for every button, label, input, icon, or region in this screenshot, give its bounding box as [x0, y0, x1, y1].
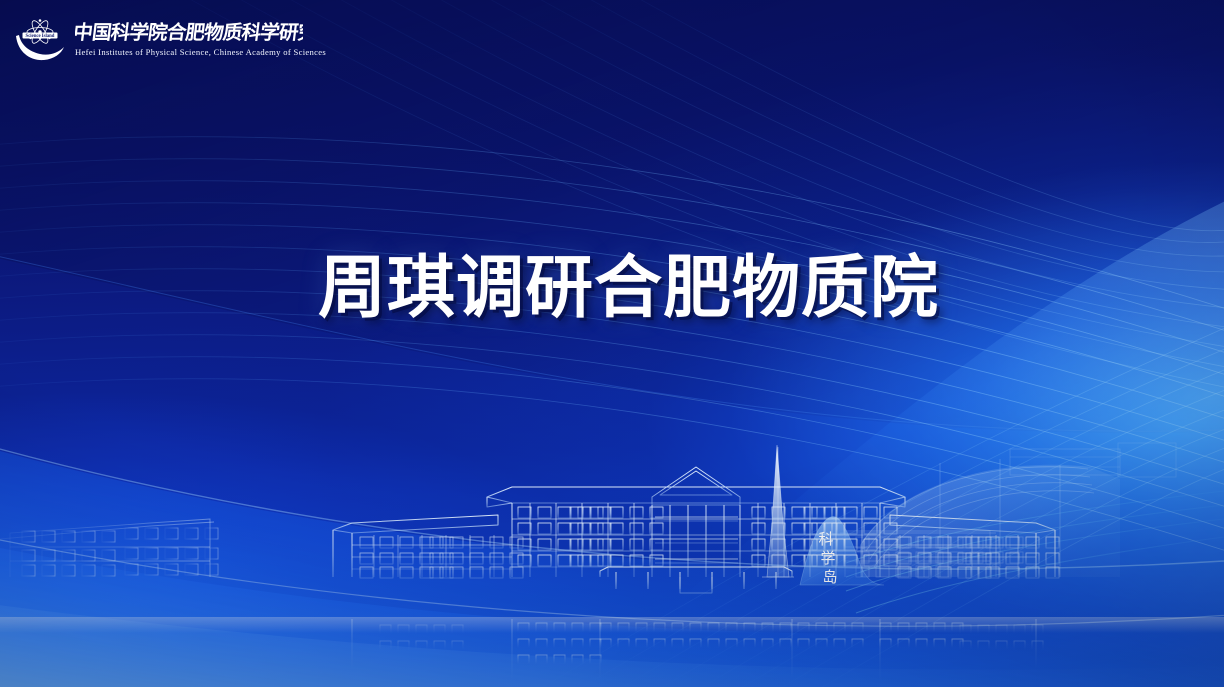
institute-logo: Science Island 中国科学院合肥物质科学研究院 Hefei Inst…: [14, 14, 326, 62]
emblem-wordmark: Science Island: [26, 34, 55, 39]
logo-textblock: 中国科学院合肥物质科学研究院 Hefei Institutes of Physi…: [75, 20, 326, 57]
institute-name-en: Hefei Institutes of Physical Science, Ch…: [75, 48, 326, 57]
presentation-slide: 科 学 岛: [0, 0, 1224, 687]
institute-name-cn-text: 中国科学院合肥物质科学研究院: [75, 21, 303, 44]
science-island-emblem-icon: Science Island: [14, 14, 66, 62]
institute-name-cn: 中国科学院合肥物质科学研究院: [75, 20, 303, 44]
background-vignette: [0, 0, 1224, 687]
slide-title: 周琪调研合肥物质院: [318, 253, 939, 325]
